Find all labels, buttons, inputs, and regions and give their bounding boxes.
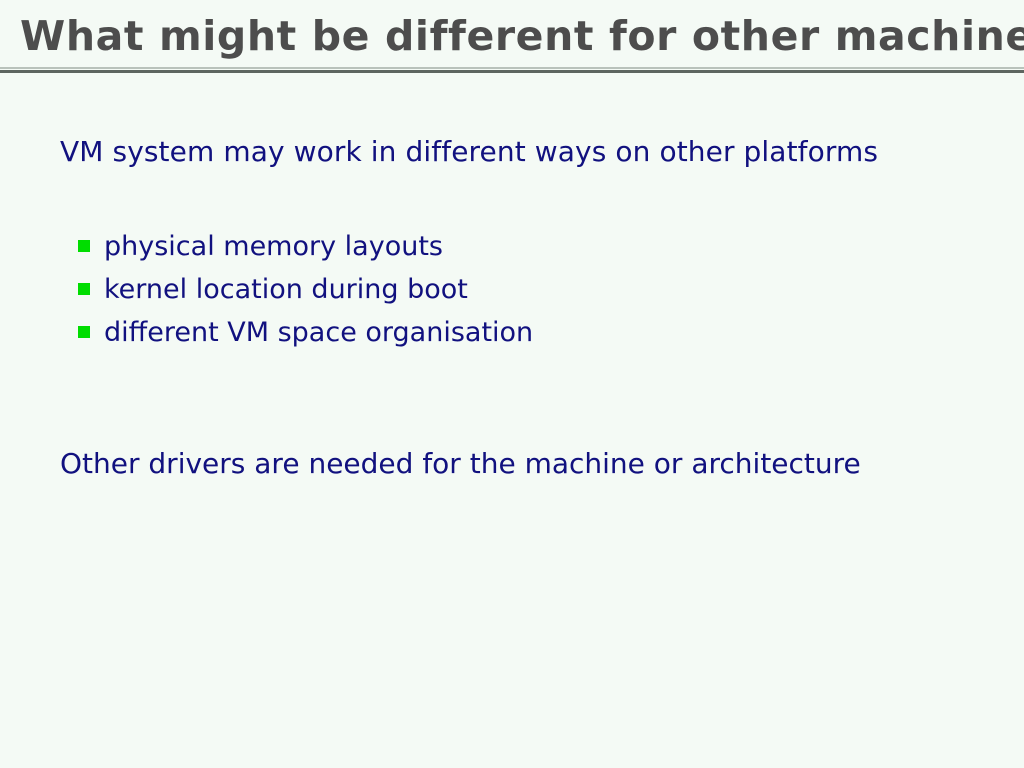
list-item: physical memory layouts [78,225,533,268]
green-square-bullet-icon [78,326,90,338]
list-item-label: physical memory layouts [104,225,443,268]
slide-title: What might be different for other machin… [20,8,1010,64]
lead-paragraph: VM system may work in different ways on … [60,135,878,168]
green-square-bullet-icon [78,240,90,252]
list-item: different VM space organisation [78,311,533,354]
list-item: kernel location during boot [78,268,533,311]
slide: What might be different for other machin… [0,0,1024,768]
closing-paragraph: Other drivers are needed for the machine… [60,447,861,480]
list-item-label: different VM space organisation [104,311,533,354]
list-item-label: kernel location during boot [104,268,468,311]
bullet-list: physical memory layouts kernel location … [78,225,533,354]
slide-body: VM system may work in different ways on … [0,73,1024,768]
green-square-bullet-icon [78,283,90,295]
